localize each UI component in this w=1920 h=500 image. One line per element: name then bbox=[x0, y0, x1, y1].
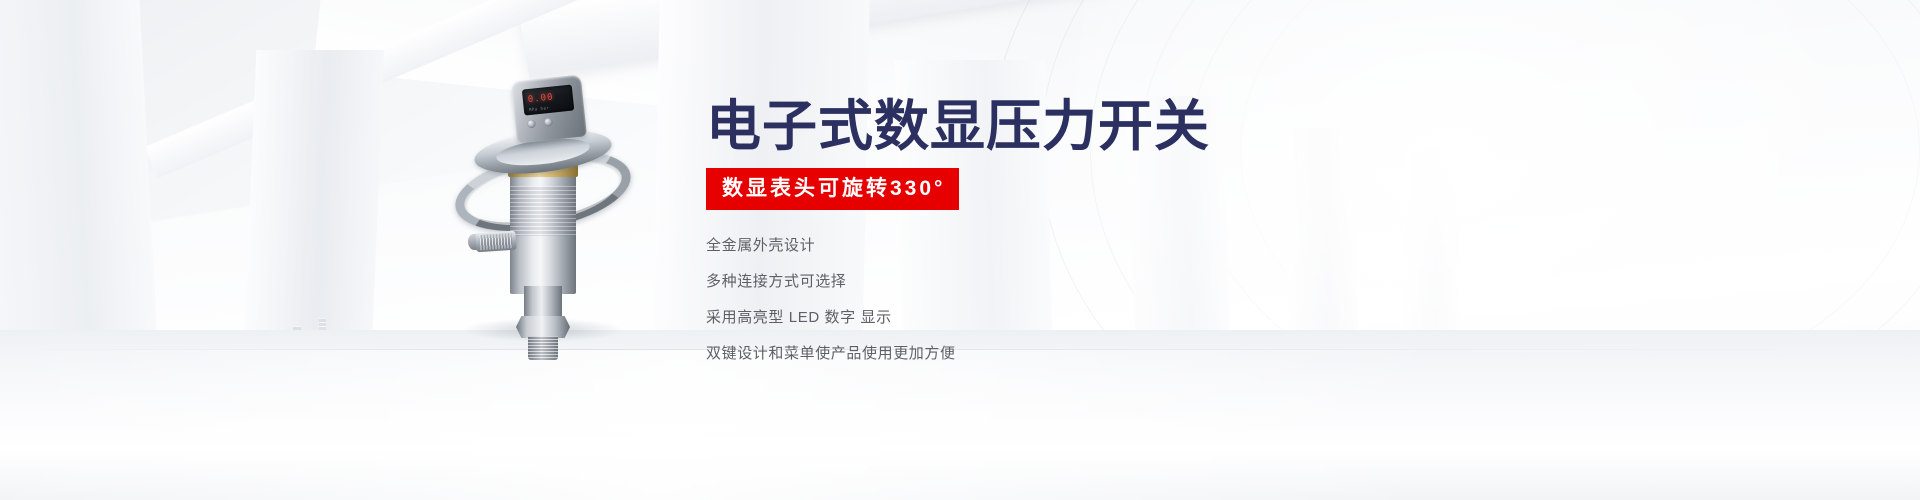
display-head: 0.00 MPa bar bbox=[511, 75, 587, 144]
led-display-screen: 0.00 MPa bar bbox=[522, 85, 574, 116]
control-buttons bbox=[527, 118, 553, 129]
tagline-badge: 数显表头可旋转330° bbox=[706, 168, 959, 210]
product-image-digital-pressure-switch: 0.00 MPa bar bbox=[448, 54, 638, 344]
page-title: 电子式数显压力开关 bbox=[706, 96, 1466, 156]
marketing-copy: 电子式数显压力开关 数显表头可旋转330° 全金属外壳设计 多种连接方式可选择 … bbox=[706, 96, 1466, 361]
list-item: 双键设计和菜单使产品使用更加方便 bbox=[706, 346, 1466, 361]
threaded-process-connection bbox=[528, 336, 558, 360]
floor-reflection-sheen bbox=[0, 350, 1920, 500]
product-stem bbox=[524, 286, 562, 320]
control-button-icon bbox=[544, 118, 553, 127]
connector-threads bbox=[480, 233, 513, 250]
feature-list: 全金属外壳设计 多种连接方式可选择 采用高亮型 LED 数字 显示 双键设计和菜… bbox=[706, 238, 1466, 361]
control-button-icon bbox=[527, 120, 536, 129]
product-body-ridges bbox=[510, 186, 576, 236]
list-item: 全金属外壳设计 bbox=[706, 238, 1466, 253]
hex-nut bbox=[516, 316, 570, 338]
led-display-value: 0.00 bbox=[527, 92, 554, 105]
tagline-wrapper: 数显表头可旋转330° bbox=[706, 168, 1466, 210]
list-item: 采用高亮型 LED 数字 显示 bbox=[706, 310, 1466, 325]
led-display-unit: MPa bar bbox=[529, 105, 550, 112]
product-hero-banner: 0.00 MPa bar 电子式数显压力开关 数显表头可旋转330° 全金属外壳… bbox=[0, 0, 1920, 500]
list-item: 多种连接方式可选择 bbox=[706, 274, 1466, 289]
